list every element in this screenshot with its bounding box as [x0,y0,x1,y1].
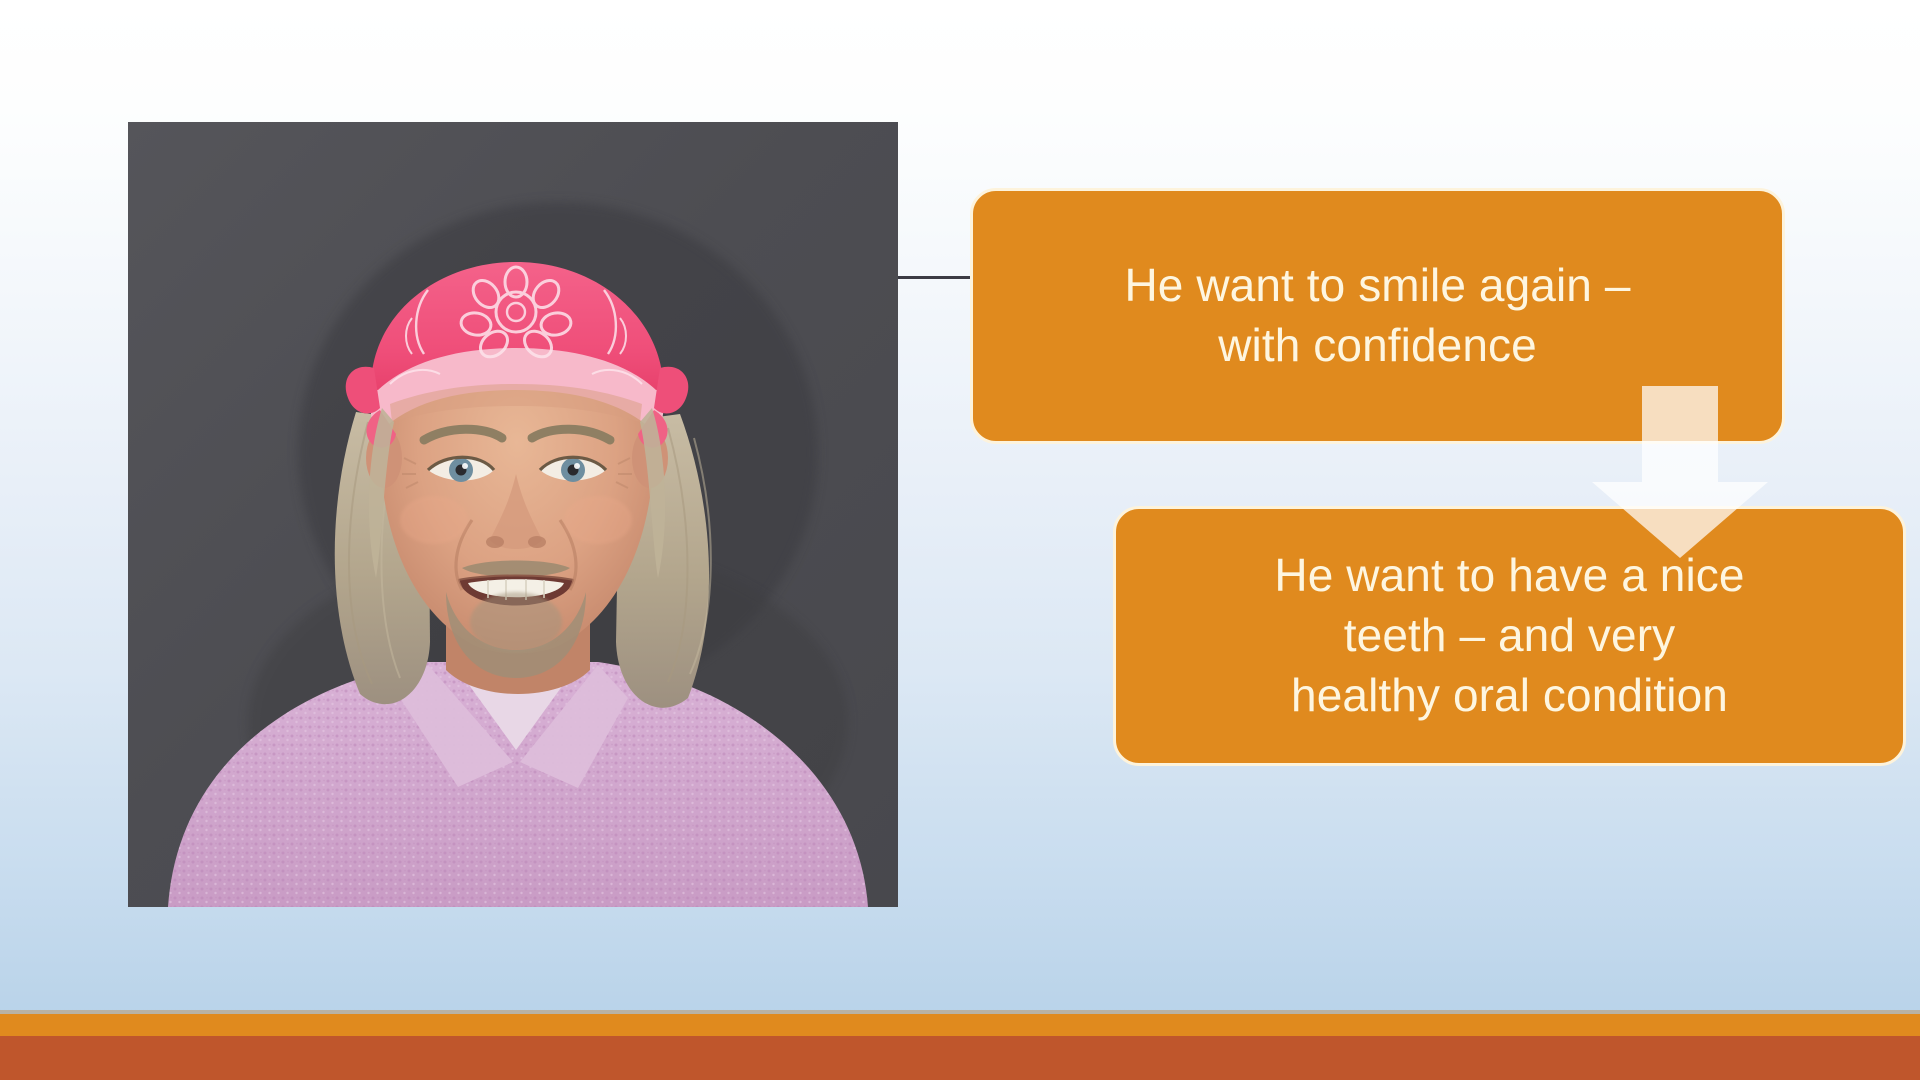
footer-rust-band [0,1036,1920,1080]
callout-box-smile-again[interactable]: He want to smile again – with confidence [970,188,1785,444]
footer-orange-band [0,1014,1920,1036]
callout-connector-line [898,276,972,279]
patient-portrait-photo [128,122,898,907]
slide-canvas: He want to smile again – with confidence… [0,0,1920,1080]
callout-2-text: He want to have a nice teeth – and very … [1142,546,1877,725]
callout-1-text: He want to smile again – with confidence [999,256,1756,376]
callout-box-nice-teeth[interactable]: He want to have a nice teeth – and very … [1113,506,1906,766]
